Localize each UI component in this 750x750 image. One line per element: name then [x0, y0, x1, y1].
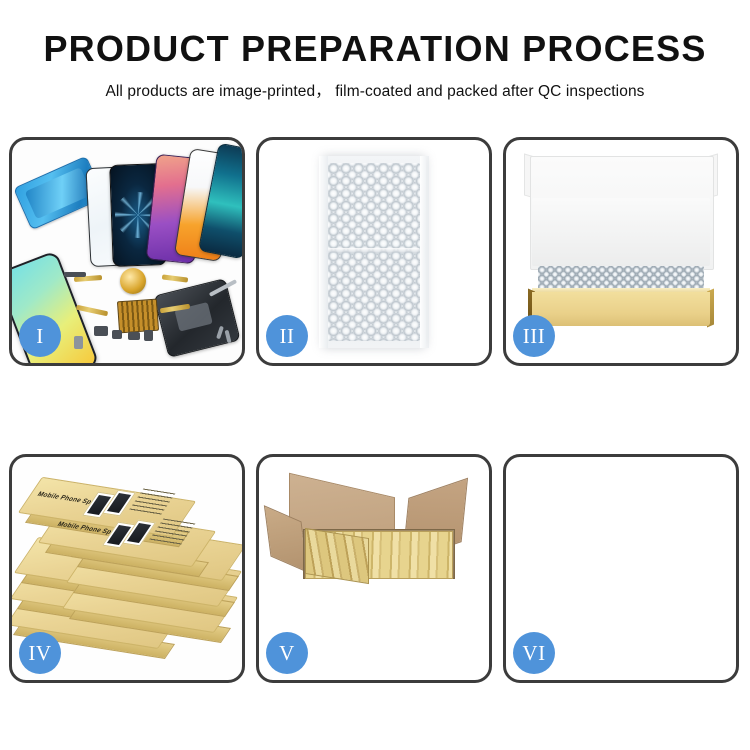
small-part-icon — [94, 326, 108, 336]
mailer-foam-liner — [532, 198, 710, 266]
page-title: PRODUCT PREPARATION PROCESS — [0, 30, 750, 68]
process-step-panel-3: III — [503, 137, 739, 366]
step-badge-4: IV — [19, 632, 61, 674]
phone-backplate-image — [153, 278, 240, 358]
step-badge-6: VI — [513, 632, 555, 674]
pouch-edge-right — [420, 156, 429, 348]
small-part-icon — [144, 330, 153, 341]
process-step-panel-2: II — [256, 137, 492, 366]
step-badge-5: V — [266, 632, 308, 674]
small-part-icon — [128, 332, 140, 340]
coil-part-icon — [120, 268, 146, 294]
carton-front-face — [295, 569, 419, 653]
process-step-grid: I II — [9, 137, 742, 683]
mailer-tray-front — [532, 292, 710, 326]
step-badge-1: I — [19, 315, 61, 357]
product-preparation-infographic: PRODUCT PREPARATION PROCESS All products… — [0, 0, 750, 750]
step-badge-2: II — [266, 315, 308, 357]
flex-cable-part-icon — [162, 274, 188, 282]
small-part-icon — [64, 272, 86, 277]
step-badge-3: III — [513, 315, 555, 357]
small-part-icon — [112, 330, 122, 339]
page-subtitle: All products are image-printed， film-coa… — [0, 79, 750, 101]
process-step-panel-6: VI — [503, 454, 739, 683]
process-step-panel-5: V — [256, 454, 492, 683]
pouch-edge-left — [319, 156, 328, 348]
small-part-icon — [74, 336, 83, 349]
process-step-panel-4: Mobile Phone Spare Parts Mobile Phone Sp… — [9, 454, 245, 683]
pouch-seam — [328, 248, 420, 253]
process-step-panel-1: I — [9, 137, 245, 366]
bubble-pouch-image — [322, 156, 426, 348]
connector-grid-part-icon — [117, 299, 159, 334]
header: PRODUCT PREPARATION PROCESS All products… — [0, 0, 750, 101]
